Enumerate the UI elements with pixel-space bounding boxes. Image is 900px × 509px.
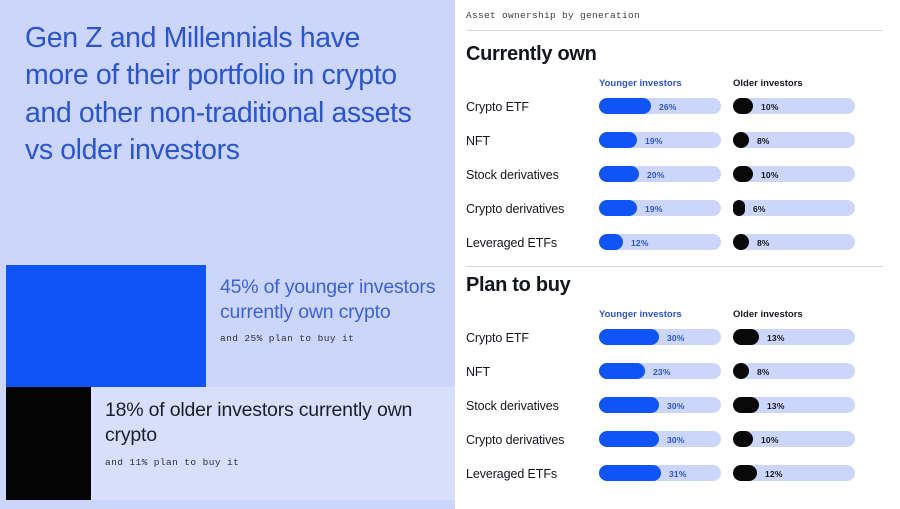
bar-fill-younger [599,234,623,250]
bar-value-younger: 19% [645,204,663,214]
bar-track-younger: 19% [599,200,721,216]
bar-track-older: 6% [733,200,855,216]
bar-track-younger: 31% [599,465,721,481]
bar-row: NFT23%8% [455,360,895,394]
older-color-swatch [6,387,91,500]
section-divider-middle [466,266,883,267]
bar-row: Stock derivatives30%13% [455,394,895,428]
bar-track-younger: 12% [599,234,721,250]
bar-row: Crypto ETF30%13% [455,326,895,360]
bar-value-younger: 31% [669,469,687,479]
bar-row-label: Crypto derivatives [466,433,564,447]
page-title: Gen Z and Millennials have more of their… [25,20,425,169]
bar-value-older: 8% [757,136,770,146]
bar-row-label: Leveraged ETFs [466,467,557,481]
bar-fill-older [733,200,745,216]
bar-value-older: 6% [753,204,766,214]
bar-fill-older [733,363,749,379]
bar-row: Crypto ETF26%10% [455,95,895,129]
bar-row: Crypto derivatives30%10% [455,428,895,462]
bar-fill-younger [599,329,659,345]
bar-track-older: 10% [733,431,855,447]
bar-fill-younger [599,166,639,182]
bar-fill-younger [599,465,661,481]
bar-value-older: 8% [757,238,770,248]
bar-value-younger: 26% [659,102,677,112]
bar-fill-younger [599,397,659,413]
bar-fill-older [733,166,753,182]
bar-value-older: 10% [761,170,779,180]
younger-color-swatch [6,265,206,387]
bar-row: Crypto derivatives19%6% [455,197,895,231]
bar-value-younger: 19% [645,136,663,146]
younger-callout-text: 45% of younger investors currently own c… [206,265,455,387]
bar-row-label: Crypto derivatives [466,202,564,216]
bar-track-older: 13% [733,329,855,345]
bar-row-label: Crypto ETF [466,100,529,114]
section-divider-top [466,30,883,31]
bar-value-younger: 23% [653,367,671,377]
bar-track-younger: 30% [599,397,721,413]
bar-track-older: 12% [733,465,855,481]
bar-fill-older [733,397,759,413]
bar-fill-younger [599,98,651,114]
bar-track-older: 10% [733,98,855,114]
bar-row-label: Leveraged ETFs [466,236,557,250]
left-headline-panel: Gen Z and Millennials have more of their… [0,0,455,509]
legend-older-plan-to-buy: Older investors [733,309,803,320]
younger-callout-stat: 45% of younger investors currently own c… [220,275,443,324]
bar-value-younger: 20% [647,170,665,180]
bar-track-older: 8% [733,363,855,379]
bar-value-younger: 12% [631,238,649,248]
bar-value-older: 12% [765,469,783,479]
bar-track-older: 8% [733,132,855,148]
bar-fill-younger [599,363,645,379]
bar-track-older: 10% [733,166,855,182]
younger-investors-callout: 45% of younger investors currently own c… [6,265,455,387]
bar-track-younger: 26% [599,98,721,114]
bar-fill-older [733,329,759,345]
younger-callout-subtext: and 25% plan to buy it [220,333,443,344]
bar-fill-older [733,431,753,447]
legend-older-currently-own: Older investors [733,78,803,89]
bar-value-younger: 30% [667,333,685,343]
bar-value-older: 8% [757,367,770,377]
bar-track-younger: 20% [599,166,721,182]
bar-row: Leveraged ETFs12%8% [455,231,895,265]
bar-fill-younger [599,132,637,148]
bar-row: NFT19%8% [455,129,895,163]
bar-fill-younger [599,431,659,447]
bar-group-plan-to-buy: Crypto ETF30%13%NFT23%8%Stock derivative… [455,326,895,496]
legend-younger-currently-own: Younger investors [599,78,682,89]
bar-fill-younger [599,200,637,216]
older-callout-stat: 18% of older investors currently own cry… [105,398,443,447]
older-investors-callout: 18% of older investors currently own cry… [6,387,455,500]
bar-fill-older [733,132,749,148]
bar-row: Leveraged ETFs31%12% [455,462,895,496]
bar-track-younger: 23% [599,363,721,379]
bar-track-older: 13% [733,397,855,413]
bar-value-younger: 30% [667,401,685,411]
older-callout-subtext: and 11% plan to buy it [105,457,443,468]
bar-track-older: 8% [733,234,855,250]
section-title-currently-own: Currently own [466,43,597,66]
right-chart-panel: Asset ownership by generation Currently … [455,0,900,509]
bar-value-older: 13% [767,401,785,411]
bar-row-label: Stock derivatives [466,168,559,182]
bar-fill-older [733,465,757,481]
legend-younger-plan-to-buy: Younger investors [599,309,682,320]
bar-value-younger: 30% [667,435,685,445]
bar-row-label: Crypto ETF [466,331,529,345]
infographic-page: Gen Z and Millennials have more of their… [0,0,900,509]
older-callout-text: 18% of older investors currently own cry… [91,387,455,500]
bar-value-older: 10% [761,102,779,112]
bar-track-younger: 19% [599,132,721,148]
section-title-plan-to-buy: Plan to buy [466,274,570,297]
bar-value-older: 13% [767,333,785,343]
bar-value-older: 10% [761,435,779,445]
bar-row-label: NFT [466,134,490,148]
bar-track-younger: 30% [599,431,721,447]
bar-row: Stock derivatives20%10% [455,163,895,197]
bar-row-label: NFT [466,365,490,379]
bar-fill-older [733,234,749,250]
bar-fill-older [733,98,753,114]
bar-group-currently-own: Crypto ETF26%10%NFT19%8%Stock derivative… [455,95,895,265]
bar-track-younger: 30% [599,329,721,345]
chart-eyebrow-label: Asset ownership by generation [466,10,640,21]
bar-row-label: Stock derivatives [466,399,559,413]
